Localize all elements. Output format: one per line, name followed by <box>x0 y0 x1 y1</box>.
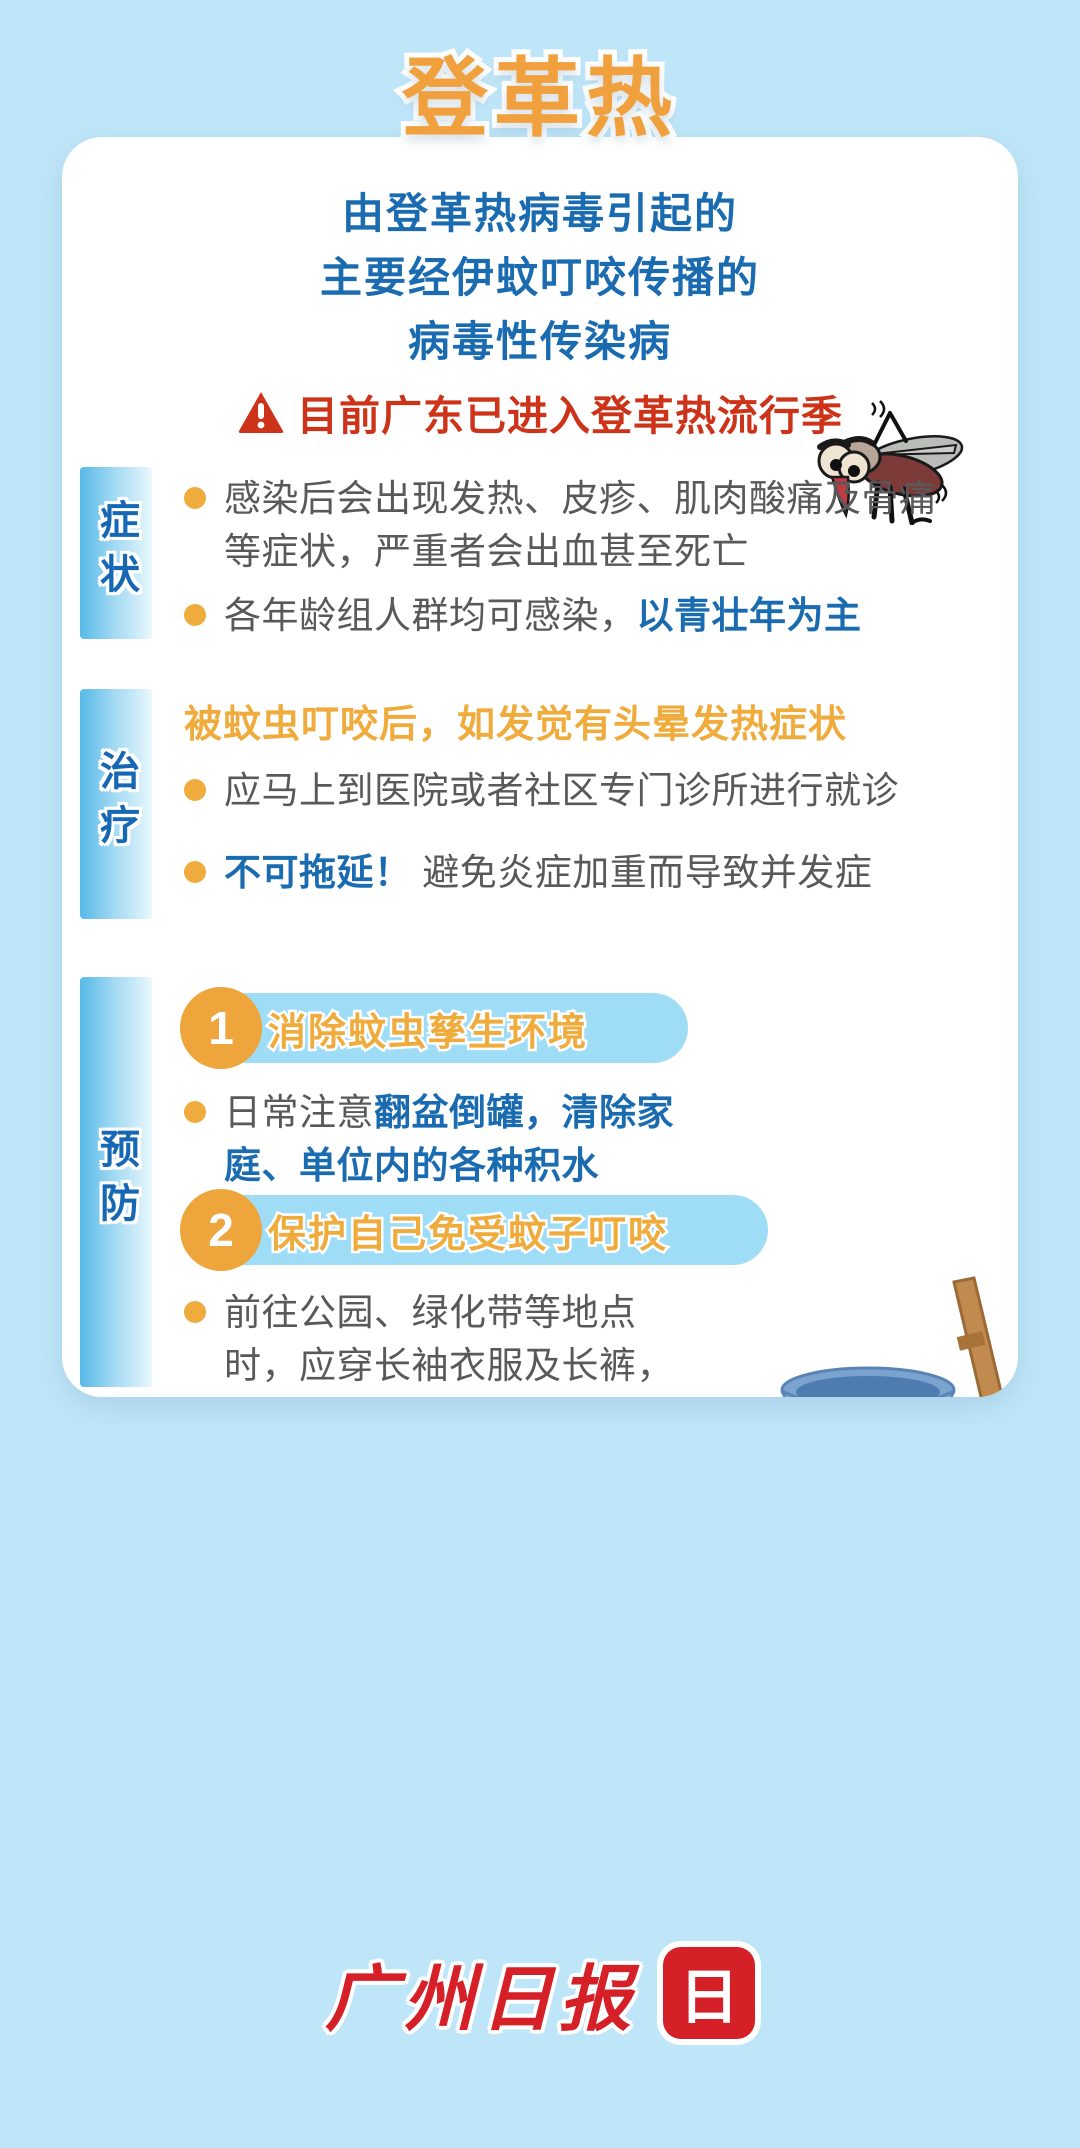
bullet-dot-icon <box>184 1301 206 1323</box>
section-band-symptoms: 症状 <box>80 467 152 639</box>
section-label-treatment: 治疗 <box>87 750 145 858</box>
bullet-symptom-2: 各年龄组人群均可感染，以青壮年为主 <box>184 590 974 643</box>
treatment-heading: 被蚊虫叮咬后，如发觉有头晕发热症状 <box>184 693 984 748</box>
bullet-prevention-2-text: 前往公园、绿化带等地点时，应穿长袖衣服及长裤，并在外露的皮肤及衣服涂上蚊虫驱避药… <box>224 1287 694 1397</box>
step-2-title: 保护自己免受蚊子叮咬 <box>268 1203 668 1258</box>
bullet-dot-icon <box>184 779 206 801</box>
intro-text: 由登革热病毒引起的 主要经伊蚊叮咬传播的 病毒性传染病 <box>62 182 1018 373</box>
bullet-prevention-2: 前往公园、绿化带等地点时，应穿长袖衣服及长裤，并在外露的皮肤及衣服涂上蚊虫驱避药… <box>184 1287 694 1397</box>
bullet-treatment-2-text: 不可拖延！ 避免炎症加重而导致并发症 <box>224 847 872 900</box>
bullet-dot-icon <box>184 487 206 509</box>
bullet-symptom-2-text: 各年龄组人群均可感染，以青壮年为主 <box>224 590 862 643</box>
intro-line-3: 病毒性传染病 <box>62 310 1018 374</box>
intro-line-2: 主要经伊蚊叮咬传播的 <box>62 246 1018 310</box>
brand-seal-icon: 日 <box>663 1947 755 2039</box>
warning-triangle-icon <box>237 390 285 434</box>
page-title: 登革热 <box>402 56 678 142</box>
step-1-title: 消除蚊虫孳生环境 <box>268 1001 588 1056</box>
section-label-symptoms: 症状 <box>87 499 145 607</box>
step-number-2: 2 <box>180 1189 262 1271</box>
bullet-prevention-1-text: 日常注意翻盆倒罐，清除家庭、单位内的各种积水 <box>224 1087 704 1192</box>
bullet-dot-icon <box>184 604 206 626</box>
bullet-dot-icon <box>184 861 206 883</box>
poster-root: 登革热 由登革热病毒引起的 主要经伊蚊叮咬传播的 病毒性传染病 <box>0 0 1080 2148</box>
warning-banner: 目前广东已进入登革热流行季 <box>62 382 1018 442</box>
bucket-mop-icon <box>722 1242 1018 1397</box>
section-band-treatment: 治疗 <box>80 689 152 919</box>
bullet-symptom-1: 感染后会出现发热、皮疹、肌肉酸痛及骨痛等症状，严重者会出血甚至死亡 <box>184 473 954 578</box>
step-number-1: 1 <box>180 987 262 1069</box>
warning-text: 目前广东已进入登革热流行季 <box>297 382 843 442</box>
bullet-treatment-1-text: 应马上到医院或者社区专门诊所进行就诊 <box>224 765 899 818</box>
footer-logo: 广州日报 日 <box>0 1940 1080 2045</box>
title-container: 登革热 <box>0 56 1080 142</box>
section-band-prevention: 预防 <box>80 977 152 1387</box>
bullet-dot-icon <box>184 1101 206 1123</box>
bullet-treatment-1: 应马上到医院或者社区专门诊所进行就诊 <box>184 765 984 818</box>
brand-name: 广州日报 <box>325 1940 637 2045</box>
prevention-step-1-pill: 1 消除蚊虫孳生环境 <box>192 993 688 1063</box>
bullet-prevention-1: 日常注意翻盆倒罐，清除家庭、单位内的各种积水 <box>184 1087 704 1192</box>
content-card: 由登革热病毒引起的 主要经伊蚊叮咬传播的 病毒性传染病 <box>62 137 1018 1397</box>
prevention-step-2-pill: 2 保护自己免受蚊子叮咬 <box>192 1195 768 1265</box>
intro-line-1: 由登革热病毒引起的 <box>62 182 1018 246</box>
bullet-treatment-2: 不可拖延！ 避免炎症加重而导致并发症 <box>184 847 984 900</box>
bullet-symptom-1-text: 感染后会出现发热、皮疹、肌肉酸痛及骨痛等症状，严重者会出血甚至死亡 <box>224 473 954 578</box>
section-label-prevention: 预防 <box>87 1128 145 1236</box>
